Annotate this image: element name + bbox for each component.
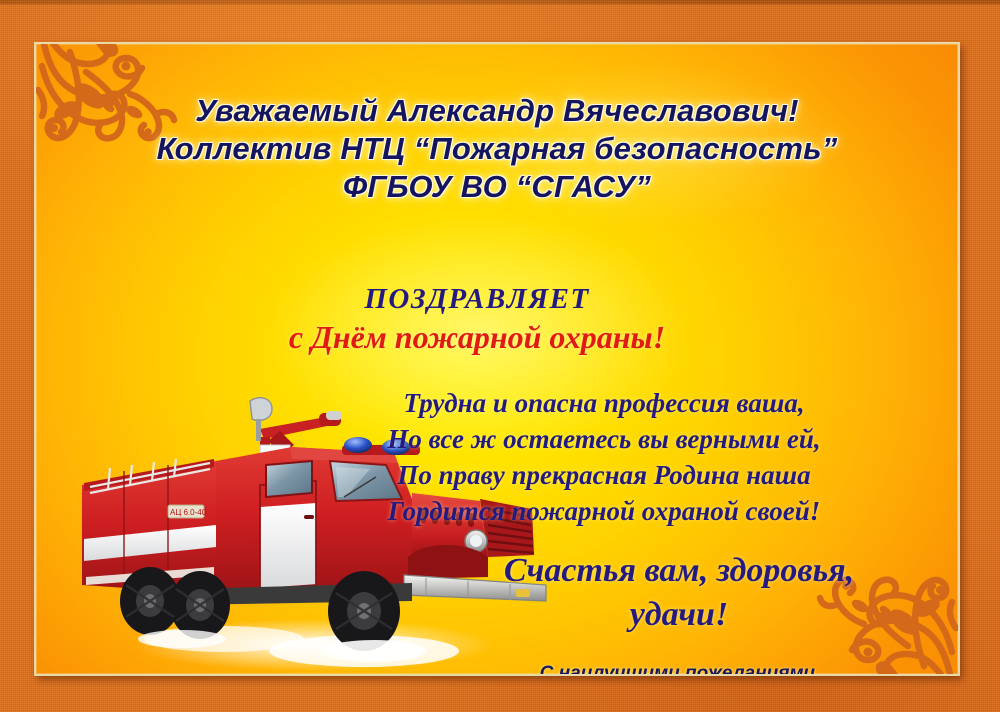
header-line-3: ФГБОУ ВО “СГАСУ” bbox=[36, 168, 958, 206]
poem-line-1: Трудна и опасна профессия ваша, bbox=[294, 385, 914, 421]
header-line-1: Уважаемый Александр Вячеславович! bbox=[36, 92, 958, 130]
card-header: Уважаемый Александр Вячеславович! Коллек… bbox=[36, 92, 958, 206]
poem-block: Трудна и опасна профессия ваша, Но все ж… bbox=[294, 385, 914, 529]
wishes-line-1: Счастья вам, здоровья, bbox=[444, 549, 914, 593]
card-frame: АЦ 6.0-40 bbox=[0, 0, 1000, 712]
poem-line-4: Гордится пожарной охраной своей! bbox=[294, 493, 914, 529]
poem-line-2: Но все ж остаетесь вы верными ей, bbox=[294, 421, 914, 457]
truck-marking-text: АЦ 6.0-40 bbox=[170, 508, 207, 517]
congratulation-block: ПОЗДРАВЛЯЕТ с Днём пожарной охраны! bbox=[36, 282, 918, 358]
greeting-card: АЦ 6.0-40 bbox=[34, 42, 960, 676]
congratulation-occasion: с Днём пожарной охраны! bbox=[36, 316, 918, 358]
congratulation-verb: ПОЗДРАВЛЯЕТ bbox=[36, 282, 918, 316]
signature-block: С наилучшими пожеланиями, директор НТЦ “… bbox=[460, 661, 900, 676]
signature-line-1: С наилучшими пожеланиями, bbox=[460, 661, 900, 676]
wishes-line-2: удачи! bbox=[444, 593, 914, 637]
wishes-block: Счастья вам, здоровья, удачи! bbox=[444, 549, 914, 637]
poem-line-3: По праву прекрасная Родина наша bbox=[294, 457, 914, 493]
header-line-2: Коллектив НТЦ “Пожарная безопасность” bbox=[36, 130, 958, 168]
